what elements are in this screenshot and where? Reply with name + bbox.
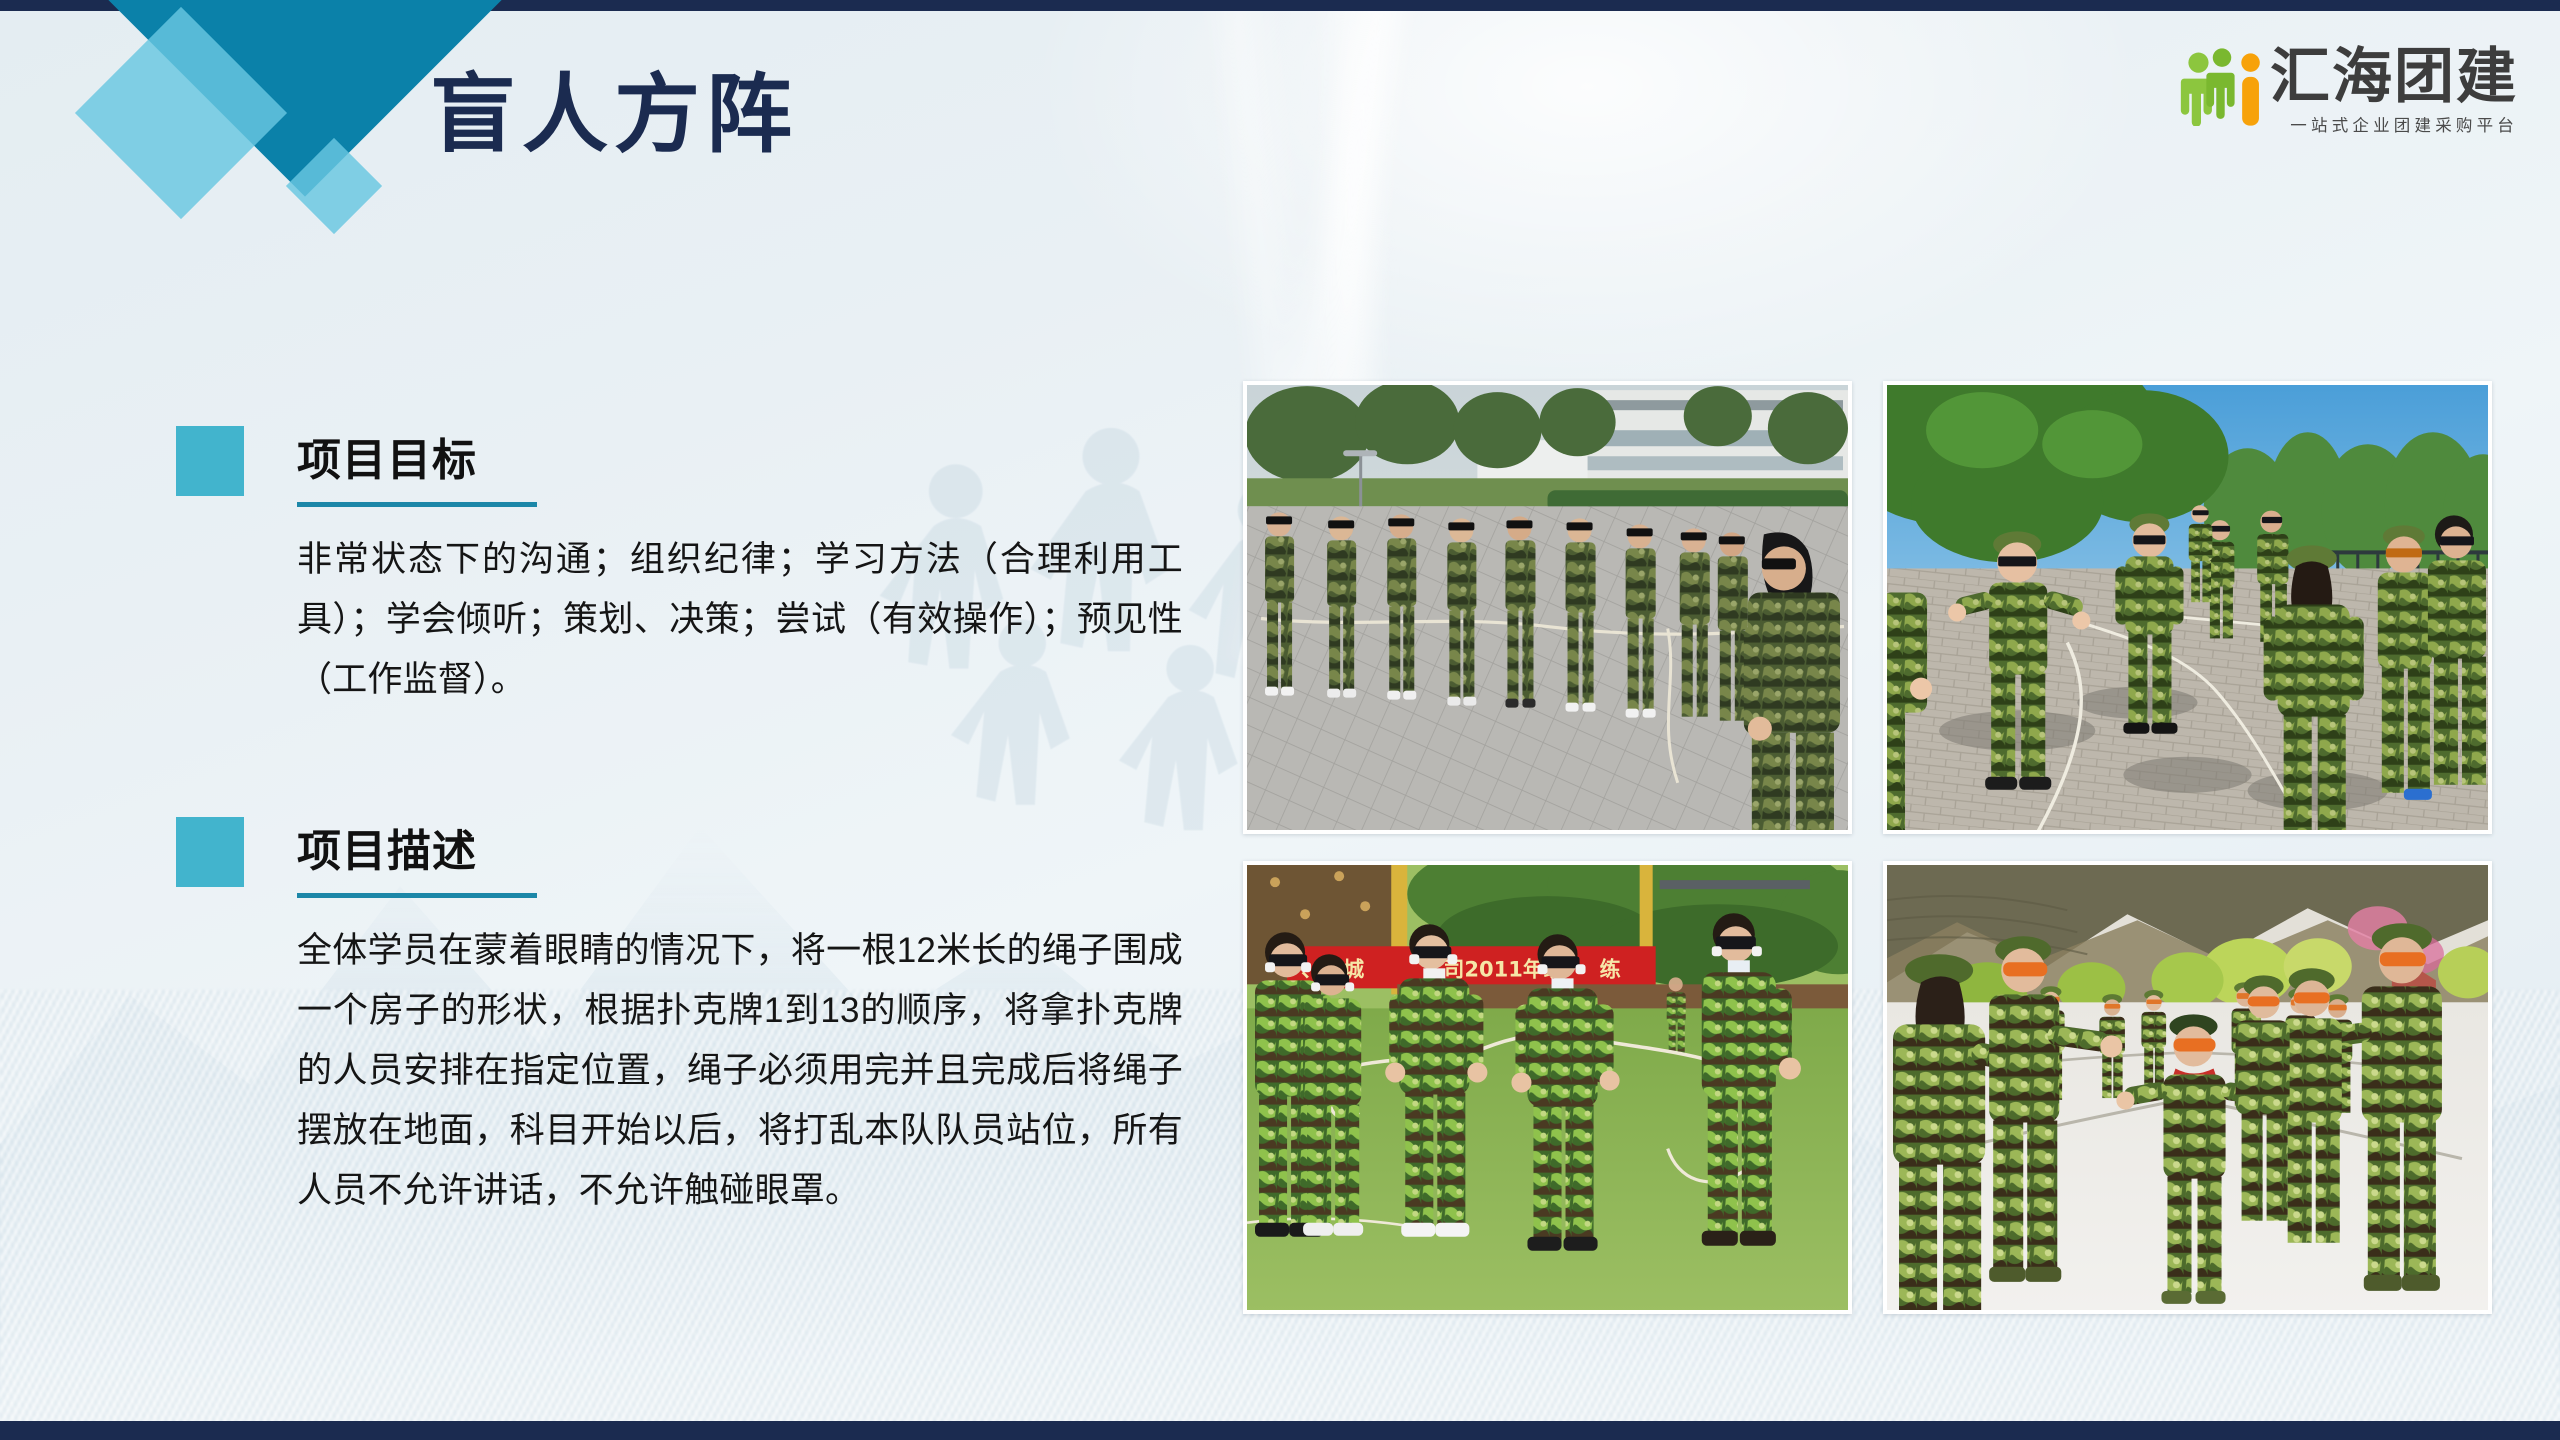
logo-tagline: 一站式企业团建采购平台 <box>2270 112 2518 136</box>
section-underline <box>297 893 537 898</box>
section-underline <box>297 502 537 507</box>
section-body-text: 全体学员在蒙着眼睛的情况下，将一根12米长的绳子围成一个房子的形状，根据扑克牌1… <box>297 921 1183 1222</box>
section-header: 项目目标 <box>176 416 1176 508</box>
photo-blindfold-rope-treepath[interactable] <box>1883 381 2492 834</box>
photo-blindfold-rope-grass-banner[interactable]: 、宣城 司2011年班 练 拓展训练 <box>1243 861 1852 1314</box>
photo-blindfold-rope-plaza[interactable] <box>1243 381 1852 834</box>
section-heading: 项目目标 <box>297 424 477 488</box>
content-column: 项目目标 非常状态下的沟通；组织纪律；学习方法（合理利用工具）；学会倾听；策划、… <box>176 416 1176 1222</box>
photo-1-illustration <box>1247 385 1848 830</box>
section-marker-square <box>176 817 244 887</box>
bottom-accent-bar <box>0 1421 2560 1440</box>
slide-canvas: 盲人方阵 汇海团建 一站式企业团建采购平台 项目目标 非常状态下的沟通； <box>0 0 2560 1440</box>
photo-blindfold-rope-mountain[interactable] <box>1883 861 2492 1314</box>
brand-logo: 汇海团建 一站式企业团建采购平台 <box>2180 48 2518 136</box>
photo-2-illustration <box>1887 385 2488 830</box>
photo-4-illustration <box>1887 865 2488 1310</box>
section-description: 项目描述 全体学员在蒙着眼睛的情况下，将一根12米长的绳子围成一个房子的形状，根… <box>176 807 1176 1222</box>
section-header: 项目描述 <box>176 807 1176 899</box>
photo-gallery: 、宣城 司2011年班 练 拓展训练 <box>1243 381 2510 1319</box>
section-marker-square <box>176 426 244 496</box>
page-title: 盲人方阵 <box>430 72 798 158</box>
section-objective: 项目目标 非常状态下的沟通；组织纪律；学习方法（合理利用工具）；学会倾听；策划、… <box>176 416 1176 711</box>
section-heading: 项目描述 <box>297 815 477 879</box>
hi-people-icon <box>2180 48 2264 126</box>
section-body-text: 非常状态下的沟通；组织纪律；学习方法（合理利用工具）；学会倾听；策划、决策；尝试… <box>297 530 1183 711</box>
svg-text:练: 练 <box>1600 956 1621 981</box>
photo-3-illustration: 、宣城 司2011年班 练 拓展训练 <box>1247 865 1848 1310</box>
logo-wordmark: 汇海团建 <box>2270 48 2518 107</box>
